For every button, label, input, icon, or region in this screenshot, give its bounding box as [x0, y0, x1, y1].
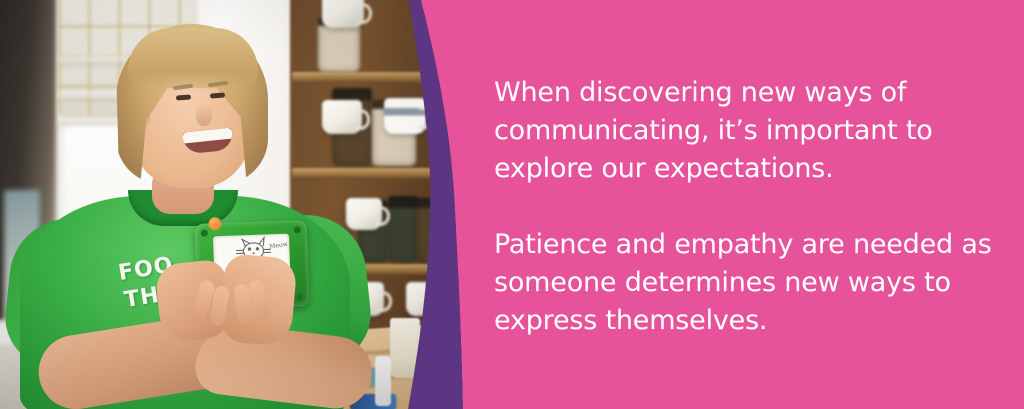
paragraph-spacer — [494, 188, 994, 226]
paragraph-1: When discovering new ways of communicati… — [494, 74, 994, 188]
copy-block: When discovering new ways of communicati… — [494, 74, 994, 340]
nose — [196, 104, 212, 126]
photo-pane: FOO TH — [0, 0, 470, 409]
person: FOO TH — [0, 0, 470, 409]
kitchen-photo: FOO TH — [0, 0, 470, 409]
board-screw — [201, 230, 208, 237]
board-screw — [294, 226, 301, 233]
eye — [176, 94, 191, 100]
board-knob — [208, 217, 221, 230]
promo-banner: FOO TH — [0, 0, 1024, 409]
board-screw — [296, 293, 303, 300]
eye — [210, 92, 225, 98]
paragraph-2: Patience and empathy are needed as someo… — [494, 226, 994, 340]
fringe — [128, 28, 258, 90]
